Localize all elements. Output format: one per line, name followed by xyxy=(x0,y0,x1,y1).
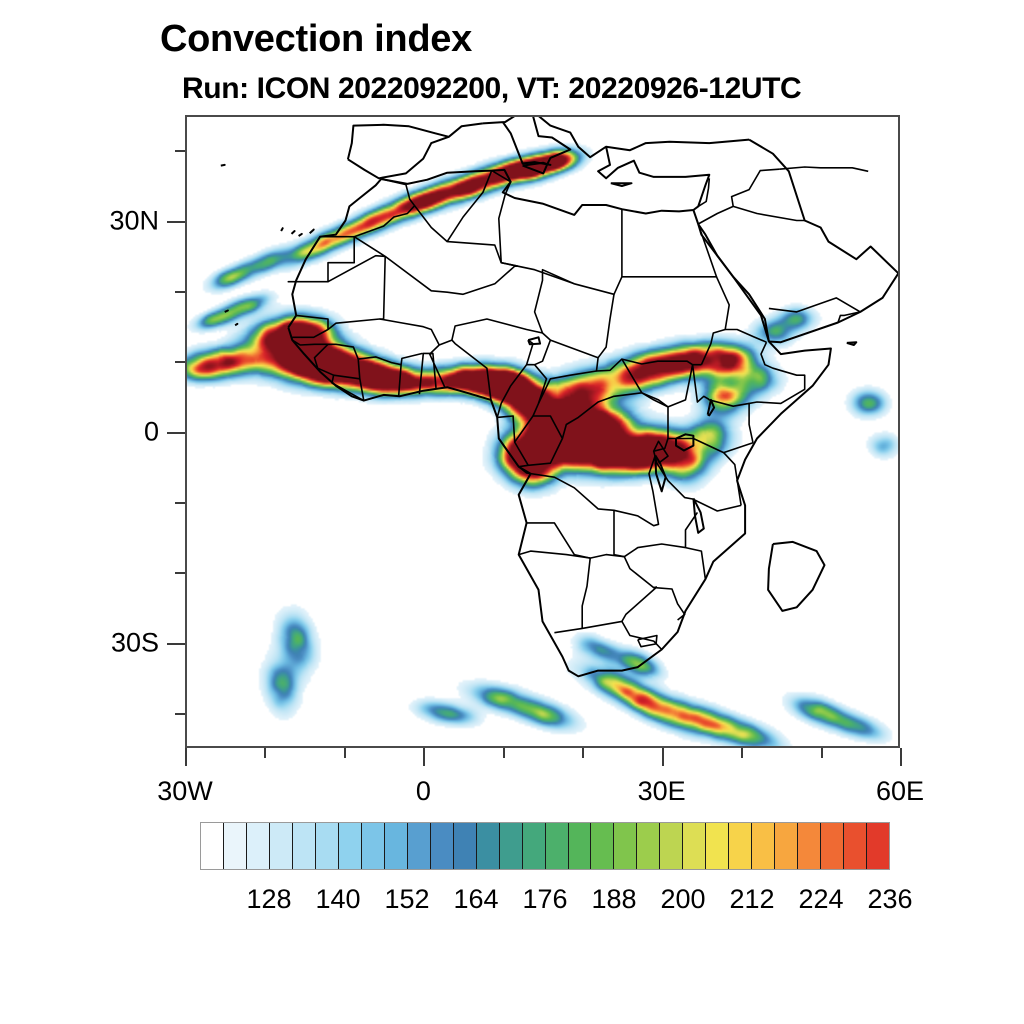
colorbar-cell xyxy=(614,823,637,869)
colorbar-tick-label: 164 xyxy=(453,884,498,915)
y-major-tick xyxy=(167,643,185,645)
colorbar-cell xyxy=(293,823,316,869)
page-subtitle: Run: ICON 2022092200, VT: 20220926-12UTC xyxy=(182,72,801,106)
colorbar-cell xyxy=(683,823,706,869)
colorbar-tick-label: 224 xyxy=(798,884,843,915)
colorbar-cell xyxy=(844,823,867,869)
y-axis-label: 30N xyxy=(109,205,159,236)
x-minor-tick xyxy=(344,748,346,758)
colorbar-tick-label: 128 xyxy=(246,884,291,915)
y-minor-tick xyxy=(175,713,185,715)
colorbar-cell xyxy=(500,823,523,869)
colorbar-cell xyxy=(591,823,614,869)
x-minor-tick xyxy=(741,748,743,758)
x-axis-label: 60E xyxy=(876,776,924,807)
x-minor-tick xyxy=(503,748,505,758)
colorbar-cell xyxy=(660,823,683,869)
y-major-tick xyxy=(167,432,185,434)
colorbar-cell xyxy=(408,823,431,869)
colorbar-cell xyxy=(546,823,569,869)
colorbar-tick-label: 212 xyxy=(729,884,774,915)
x-axis-label: 30W xyxy=(157,776,213,807)
y-minor-tick xyxy=(175,572,185,574)
colorbar-tick-label: 236 xyxy=(867,884,912,915)
page-title: Convection index xyxy=(160,18,472,61)
x-major-tick xyxy=(423,748,425,766)
colorbar-cell xyxy=(752,823,775,869)
y-axis-label: 30S xyxy=(111,627,159,658)
colorbar-tick-label: 200 xyxy=(660,884,705,915)
x-minor-tick xyxy=(821,748,823,758)
x-major-tick xyxy=(900,748,902,766)
colorbar-cell xyxy=(339,823,362,869)
colorbar-cell xyxy=(224,823,247,869)
colorbar-cell xyxy=(775,823,798,869)
colorbar-cell xyxy=(316,823,339,869)
colorbar-cell xyxy=(706,823,729,869)
colorbar-cell xyxy=(867,823,889,869)
x-minor-tick xyxy=(264,748,266,758)
colorbar-cell xyxy=(454,823,477,869)
colorbar-cell xyxy=(477,823,500,869)
colorbar-cell xyxy=(270,823,293,869)
colorbar-cell xyxy=(385,823,408,869)
convection-index-field xyxy=(185,115,900,748)
colorbar[interactable] xyxy=(200,822,890,870)
convection-index-figure: Convection index Run: ICON 2022092200, V… xyxy=(0,0,1024,1024)
y-minor-tick xyxy=(175,291,185,293)
map-canvas xyxy=(185,115,900,748)
colorbar-cell xyxy=(569,823,592,869)
map-plot-area[interactable] xyxy=(185,115,900,748)
x-axis-label: 30E xyxy=(638,776,686,807)
x-major-tick xyxy=(185,748,187,766)
colorbar-cell xyxy=(798,823,821,869)
colorbar-tick-label: 152 xyxy=(384,884,429,915)
y-minor-tick xyxy=(175,150,185,152)
colorbar-cell xyxy=(201,823,224,869)
x-minor-tick xyxy=(582,748,584,758)
colorbar-tick-label: 140 xyxy=(315,884,360,915)
x-axis-label: 0 xyxy=(416,776,431,807)
x-major-tick xyxy=(662,748,664,766)
y-minor-tick xyxy=(175,502,185,504)
colorbar-cell xyxy=(523,823,546,869)
colorbar-cell xyxy=(431,823,454,869)
colorbar-tick-label: 176 xyxy=(522,884,567,915)
colorbar-tick-label: 188 xyxy=(591,884,636,915)
colorbar-cell xyxy=(637,823,660,869)
colorbar-cell xyxy=(247,823,270,869)
y-minor-tick xyxy=(175,361,185,363)
y-major-tick xyxy=(167,221,185,223)
colorbar-cell xyxy=(821,823,844,869)
y-axis-label: 0 xyxy=(144,416,159,447)
colorbar-cell xyxy=(362,823,385,869)
colorbar-cell xyxy=(729,823,752,869)
